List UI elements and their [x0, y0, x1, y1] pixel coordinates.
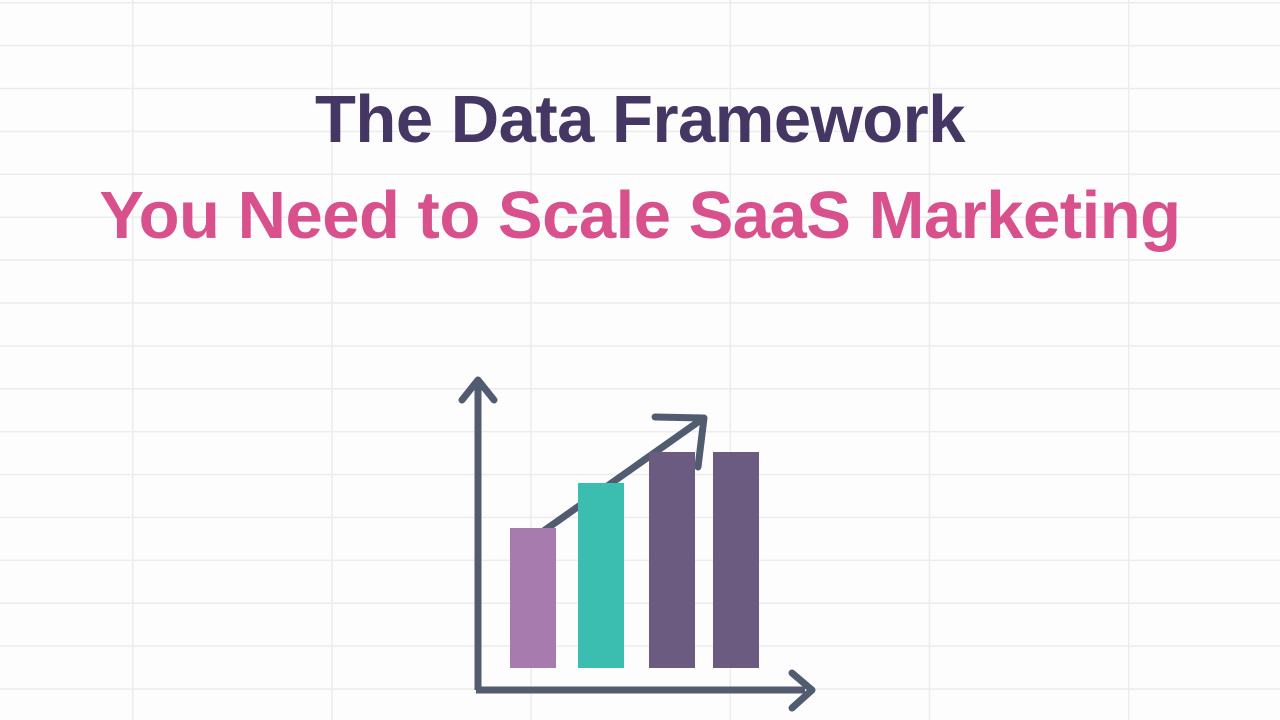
slide-canvas: The Data Framework You Need to Scale Saa…	[0, 0, 1280, 720]
y-axis	[462, 380, 494, 690]
page-title-line-2: You Need to Scale SaaS Marketing	[0, 182, 1280, 249]
bar-3	[649, 452, 695, 668]
x-axis	[476, 673, 812, 708]
bar-4	[713, 452, 759, 668]
bar-2	[578, 483, 624, 668]
bar-chart-illustration	[440, 360, 840, 720]
page-title-line-1: The Data Framework	[0, 86, 1280, 153]
chart-svg	[440, 360, 840, 720]
headline-block: The Data Framework You Need to Scale Saa…	[0, 86, 1280, 249]
bar-1	[510, 528, 556, 668]
